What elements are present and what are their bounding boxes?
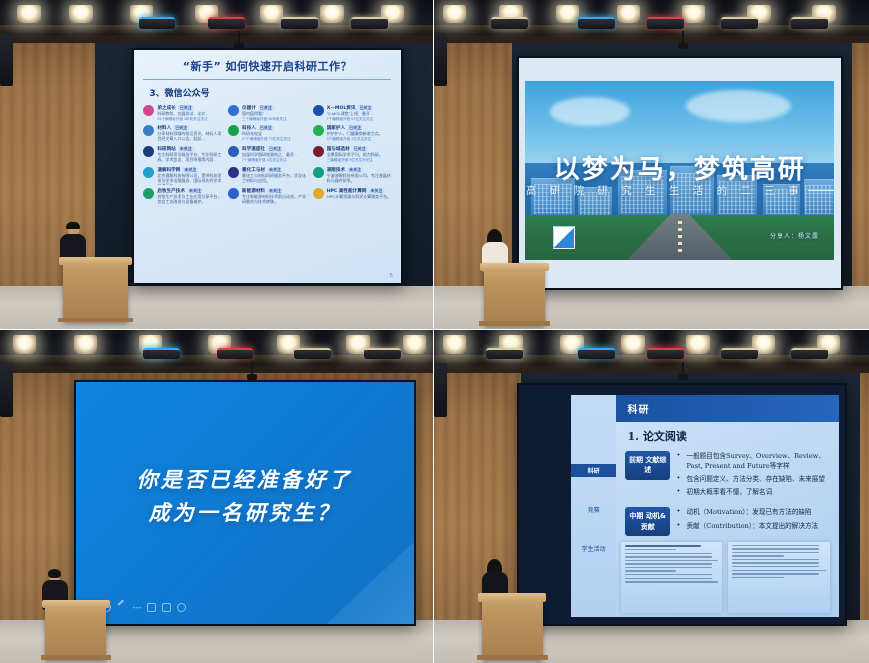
cloud xyxy=(686,90,791,122)
account-name: 最化工与材 xyxy=(242,168,265,173)
stage-light-blue-icon xyxy=(143,348,180,359)
stage-light-icon xyxy=(556,5,579,23)
question-line-1: 你是否已经准备好了 xyxy=(76,464,414,497)
slide-research-outline: 科研 竞赛 学生活动 科研 1. 论文阅读 前期 文献综述 一般题目包含Surv… xyxy=(571,395,839,617)
account-desc: 科研充电宝 xyxy=(242,131,307,136)
bullet-list: 动机（Motivation）：发现已有方法的缺陷 贡献（Contribution… xyxy=(677,507,839,533)
account-desc: “X-MOL课堂”上线、最开… xyxy=(327,111,392,116)
account-desc: 加温科学图研效量构之、最开… xyxy=(242,152,307,157)
stage-light-red-icon xyxy=(647,348,684,359)
account-name: X—MOL资讯 xyxy=(327,106,356,111)
account-links: 3个编辑者外链 2位关注关注 xyxy=(327,137,392,142)
stage-light-warm-icon xyxy=(294,348,331,359)
sidebar-item-student-activity[interactable]: 学生活动 xyxy=(571,542,617,555)
account-name: 弟之成长 xyxy=(157,106,175,111)
stage-light-red-icon xyxy=(208,17,245,28)
road-centerline xyxy=(678,221,682,257)
stage-light-icon xyxy=(617,5,640,23)
account-desc: 国内值得看！ xyxy=(242,111,307,116)
slide-title: “新手” 如何快速开启科研工作？ xyxy=(143,58,391,80)
account-desc: 护护护人，门健康商新收力点。 xyxy=(327,131,392,136)
account-name: 仪器计 xyxy=(242,106,256,111)
account-desc: 启牧生产技术与工业应用分享平台，包含工艺改进与设备维护。 xyxy=(157,194,222,205)
stage-light-icon xyxy=(686,335,709,354)
account-desc: 宁波液眼科技有限公司，专注液晶材料与器件研发。 xyxy=(327,173,392,184)
account-avatar-icon xyxy=(143,105,154,116)
stage-light-icon xyxy=(17,5,40,23)
question-line-2: 成为一名研究生？ xyxy=(76,497,414,530)
account-links: 7个编辑者外链 4位关注关注 xyxy=(242,158,307,163)
podium xyxy=(45,600,106,660)
list-item: 一般题目包含Survey、Overview、Review、Past, Prese… xyxy=(677,451,829,471)
account-desc: 最化工与材料科研服务平台，涉及化工材料与应用。 xyxy=(242,173,307,184)
slide-wechat-accounts: “新手” 如何快速开启科研工作？ 3、微信公众号 弟之成长已关注 科研教程、仪器… xyxy=(134,50,401,283)
status-badge: 未关注 xyxy=(178,146,194,152)
projection-screen: 你是否已经准备好了 成为一名研究生？ xyxy=(74,380,416,626)
podium xyxy=(482,593,543,660)
stage-light-warm-icon xyxy=(351,17,388,28)
cap-icon xyxy=(66,222,80,229)
slide-campus-title: 以梦为马，梦筑高研 高 研 院 研 究 生 生 活 的 二 三 事 分享人：杨文… xyxy=(525,81,834,260)
stage-light-red-icon xyxy=(217,348,254,359)
stage-light-warm-icon xyxy=(791,17,828,28)
list-item: X—MOL资讯已关注 “X-MOL课堂”上线、最开… 7个编辑者外链 67位关注… xyxy=(313,105,392,122)
slide-view-icon[interactable] xyxy=(147,603,156,612)
wall-speaker xyxy=(0,363,13,416)
stage-light-blue-icon xyxy=(139,17,176,28)
account-links: 27个编辑者外链 79位关注关注 xyxy=(242,137,307,142)
slide-page-number: 5 xyxy=(390,273,393,279)
account-links: 三个编辑者外链 56年前关注 xyxy=(242,117,307,122)
wall-speaker xyxy=(434,33,447,86)
account-avatar-icon xyxy=(313,125,324,136)
status-badge: 未关注 xyxy=(267,188,283,194)
stage-light-icon xyxy=(260,5,283,23)
list-item: 最化工与材未关注 最化工与材料科研服务平台，涉及化工材料与应用。 xyxy=(228,167,307,185)
slide-subtitle: 高 研 院 研 究 生 生 活 的 二 三 事 xyxy=(525,183,834,198)
panel-bottom-left: 你是否已经准备好了 成为一名研究生？ xyxy=(0,330,434,663)
paper-line xyxy=(732,545,819,546)
list-item: 动机（Motivation）：发现已有方法的缺陷 xyxy=(677,507,829,517)
paper-line xyxy=(732,566,819,567)
account-links: 三编辑者外链 4位关注为关注 xyxy=(327,158,392,163)
list-item: 初期大概率看不懂，了解名词 xyxy=(677,487,829,497)
list-item: 通解科学网未关注 北京通解科技有限公司，提供科技资讯与学术出版服务、国际领先的学… xyxy=(143,167,222,185)
slide-heading: 1. 论文阅读 xyxy=(628,428,839,444)
account-links: 25个编辑者外链 3年前关注关注 xyxy=(157,117,222,122)
panel-bottom-right: 科研 竞赛 学生活动 科研 1. 论文阅读 前期 文献综述 一般题目包含Surv… xyxy=(434,330,869,663)
account-desc: HPC计算资源与科学计算服务平台。 xyxy=(327,194,392,199)
stage-light-icon xyxy=(443,335,466,354)
paper-line xyxy=(732,548,819,549)
stage-light-icon xyxy=(682,5,705,23)
list-item: 贡献（Contribution）：本文提出的解决方法 xyxy=(677,521,829,531)
account-desc: 科研教程、仪器测试、论文… xyxy=(157,111,222,116)
account-avatar-icon xyxy=(313,146,324,157)
stage-light-warm-icon xyxy=(721,348,758,359)
hanging-rod xyxy=(682,31,684,46)
paper-line xyxy=(625,581,718,582)
hair xyxy=(48,569,61,578)
account-avatar-icon xyxy=(228,105,239,116)
list-item: 国与城选材已关注 全景国际学术子刊，助力科研。 三编辑者外链 4位关注为关注 xyxy=(313,146,392,164)
paper-screenshot-left xyxy=(621,542,722,613)
stage-light-icon xyxy=(13,335,36,354)
stage-light-warm-icon xyxy=(491,17,528,28)
sidebar-item-research[interactable]: 科研 xyxy=(571,464,617,477)
account-name: 新能源材料 xyxy=(242,189,265,194)
status-badge: 未关注 xyxy=(187,188,203,194)
panel-top-left: “新手” 如何快速开启科研工作？ 3、微信公众号 弟之成长已关注 科研教程、仪器… xyxy=(0,0,434,330)
account-avatar-icon xyxy=(313,105,324,116)
account-links: 7个编辑者外链 67位关注关注 xyxy=(327,117,392,122)
wechat-account-grid: 弟之成长已关注 科研教程、仪器测试、论文… 25个编辑者外链 3年前关注关注 仪… xyxy=(143,105,391,205)
list-item: 包含问题定义、方法分类、存在缺陷、未来展望 xyxy=(677,474,829,484)
panel-top-right: 以梦为马，梦筑高研 高 研 院 研 究 生 生 活 的 二 三 事 分享人：杨文… xyxy=(434,0,869,330)
sidebar-item-competition[interactable]: 竞赛 xyxy=(571,503,617,516)
status-badge: 未关注 xyxy=(347,167,363,173)
pen-icon[interactable] xyxy=(117,603,126,612)
photo-collage: “新手” 如何快速开启科研工作？ 3、微信公众号 弟之成长已关注 科研教程、仪器… xyxy=(0,0,869,663)
account-avatar-icon xyxy=(313,167,324,178)
account-avatar-icon xyxy=(228,125,239,136)
paper-line xyxy=(625,560,718,561)
cloud xyxy=(550,97,630,126)
end-show-icon[interactable] xyxy=(177,603,186,612)
paper-line xyxy=(732,552,819,553)
projection-screen: 科研 竞赛 学生活动 科研 1. 论文阅读 前期 文献综述 一般题目包含Surv… xyxy=(517,383,848,626)
paper-title-line xyxy=(625,545,702,547)
paper-line xyxy=(625,553,712,554)
list-item: 弟之成长已关注 科研教程、仪器测试、论文… 25个编辑者外链 3年前关注关注 xyxy=(143,105,222,122)
paper-line xyxy=(625,574,712,575)
status-badge: 已关注 xyxy=(178,105,194,111)
status-badge: 已关注 xyxy=(258,105,274,111)
stage-light-icon xyxy=(621,335,644,354)
status-badge: 未关注 xyxy=(267,167,283,173)
stage-light-warm-icon xyxy=(486,348,523,359)
account-avatar-icon xyxy=(313,188,324,199)
paper-line xyxy=(625,578,712,579)
account-avatar-icon xyxy=(228,167,239,178)
paper-line xyxy=(625,567,712,568)
stage-light-icon xyxy=(320,5,343,23)
list-item: 材料人已关注 分享材料领域的前沿资讯、材料人项目经文章入口公告、起起… xyxy=(143,125,222,143)
list-item: 国家护人已关注 护护护人，门健康商新收力点。 3个编辑者外链 2位关注关注 xyxy=(313,125,392,143)
paper-line xyxy=(732,573,819,574)
status-badge: 已关注 xyxy=(267,146,283,152)
paper-line xyxy=(732,555,783,556)
hanging-rod xyxy=(682,362,684,377)
account-name: 通解科学网 xyxy=(157,168,180,173)
podium xyxy=(63,257,128,323)
account-avatar-icon xyxy=(143,146,154,157)
account-desc: 全景国际学术子刊，助力科研。 xyxy=(327,152,392,157)
podium xyxy=(484,263,545,326)
list-item: 新能源材料未关注 专注新能源材料技术前沿动态，产学研融合与技术转移。 xyxy=(228,188,307,205)
list-item: 液眼技术未关注 宁波液眼科技有限公司，专注液晶材料与器件研发。 xyxy=(313,167,392,185)
wall-speaker xyxy=(434,363,447,416)
status-badge: 未关注 xyxy=(368,188,384,194)
presenter-label: 分享人：杨文露 xyxy=(770,231,819,240)
stage-light-warm-icon xyxy=(721,17,758,28)
list-item: 仪器计已关注 国内值得看！ 三个编辑者外链 56年前关注 xyxy=(228,105,307,122)
slide-question: 你是否已经准备好了 成为一名研究生？ xyxy=(76,382,414,624)
paper-screenshot-right xyxy=(728,542,829,613)
status-badge: 已关注 xyxy=(357,105,373,111)
paper-line xyxy=(625,570,676,571)
account-avatar-icon xyxy=(143,125,154,136)
paper-line xyxy=(625,549,676,550)
slide-title: 以梦为马，梦筑高研 xyxy=(525,149,834,186)
hanging-rod xyxy=(238,31,240,46)
paper-screenshots xyxy=(621,542,830,613)
stage-light-icon xyxy=(69,5,92,23)
content-group: 前期 文献综述 一般题目包含Survey、Overview、Review、Pas… xyxy=(625,451,838,501)
account-desc: 专注新能源材料技术前沿动态，产学研融合与技术转移。 xyxy=(242,194,307,205)
account-avatar-icon xyxy=(143,188,154,199)
stage-light-icon xyxy=(443,5,466,23)
slide-text: 你是否已经准备好了 成为一名研究生？ xyxy=(76,464,414,529)
projection-screen: “新手” 如何快速开启科研工作？ 3、微信公众号 弟之成长已关注 科研教程、仪器… xyxy=(132,48,403,285)
slide-banner: 科研 xyxy=(616,395,838,422)
stage-light-red-icon xyxy=(647,17,684,28)
slide-main-content: 科研 1. 论文阅读 前期 文献综述 一般题目包含Survey、Overview… xyxy=(616,395,838,617)
list-item: 科研网站未关注 专注科研资讯服务平台、专业科研工具、学术会议、项目申报等内容… xyxy=(143,146,222,164)
stage-light-warm-icon xyxy=(791,348,828,359)
bullet-list: 一般题目包含Survey、Overview、Review、Past, Prese… xyxy=(677,451,839,501)
account-avatar-icon xyxy=(228,146,239,157)
account-name: 液眼技术 xyxy=(327,168,345,173)
paper-line xyxy=(625,556,712,557)
campus-logo-icon xyxy=(553,226,575,249)
account-avatar-icon xyxy=(143,167,154,178)
status-badge: 已关注 xyxy=(352,146,368,152)
stage-light-blue-icon xyxy=(578,348,615,359)
slide-section-label: 3、微信公众号 xyxy=(149,86,391,99)
paper-line xyxy=(732,577,783,578)
list-item: 科学温度社已关注 加温科学图研效量构之、最开… 7个编辑者外链 4位关注关注 xyxy=(228,146,307,164)
account-desc: 北京通解科技有限公司，提供科技资讯与学术出版服务、国际领先的学术交流平台。 xyxy=(157,173,222,185)
account-desc: 分享材料领域的前沿资讯、材料人项目经文章入口公告、起起… xyxy=(157,131,222,142)
list-item: HPC 高性能计算网未关注 HPC计算资源与科学计算服务平台。 xyxy=(313,188,392,205)
stage-light-warm-icon xyxy=(364,348,401,359)
paper-line xyxy=(625,563,712,564)
status-badge: 未关注 xyxy=(182,167,198,173)
list-item: 启牧生产技术未关注 启牧生产技术与工业应用分享平台，包含工艺改进与设备维护。 xyxy=(143,188,222,205)
slide-sidebar: 科研 竞赛 学生活动 xyxy=(571,395,617,617)
account-avatar-icon xyxy=(228,188,239,199)
decorative-corner xyxy=(326,542,414,624)
stage-light-warm-icon xyxy=(281,17,318,28)
hanging-rod xyxy=(251,362,253,377)
projection-screen: 以梦为马，梦筑高研 高 研 院 研 究 生 生 活 的 二 三 事 分享人：杨文… xyxy=(517,56,843,290)
account-name: 启牧生产技术 xyxy=(157,189,185,194)
stage-light-icon xyxy=(403,335,426,354)
account-name: HPC 高性能计算网 xyxy=(327,189,367,194)
presenter-view-icon[interactable] xyxy=(162,603,171,612)
list-item: 科技人已关注 科研充电宝 27个编辑者外链 79位关注关注 xyxy=(228,125,307,143)
stage-light-blue-icon xyxy=(578,17,615,28)
stage-chip-early: 前期 文献综述 xyxy=(625,451,670,480)
stage-light-icon xyxy=(74,335,97,354)
stage-chip-mid: 中期 动机&贡献 xyxy=(625,507,670,536)
wall-speaker xyxy=(0,33,13,86)
account-desc: 专注科研资讯服务平台、专业科研工具、学术会议、项目申报等内容… xyxy=(157,152,222,163)
paper-line xyxy=(732,562,819,563)
more-options-icon[interactable] xyxy=(132,603,141,612)
content-group: 中期 动机&贡献 动机（Motivation）：发现已有方法的缺陷 贡献（Con… xyxy=(625,507,838,536)
paper-line xyxy=(732,570,825,571)
paper-line xyxy=(732,559,819,560)
